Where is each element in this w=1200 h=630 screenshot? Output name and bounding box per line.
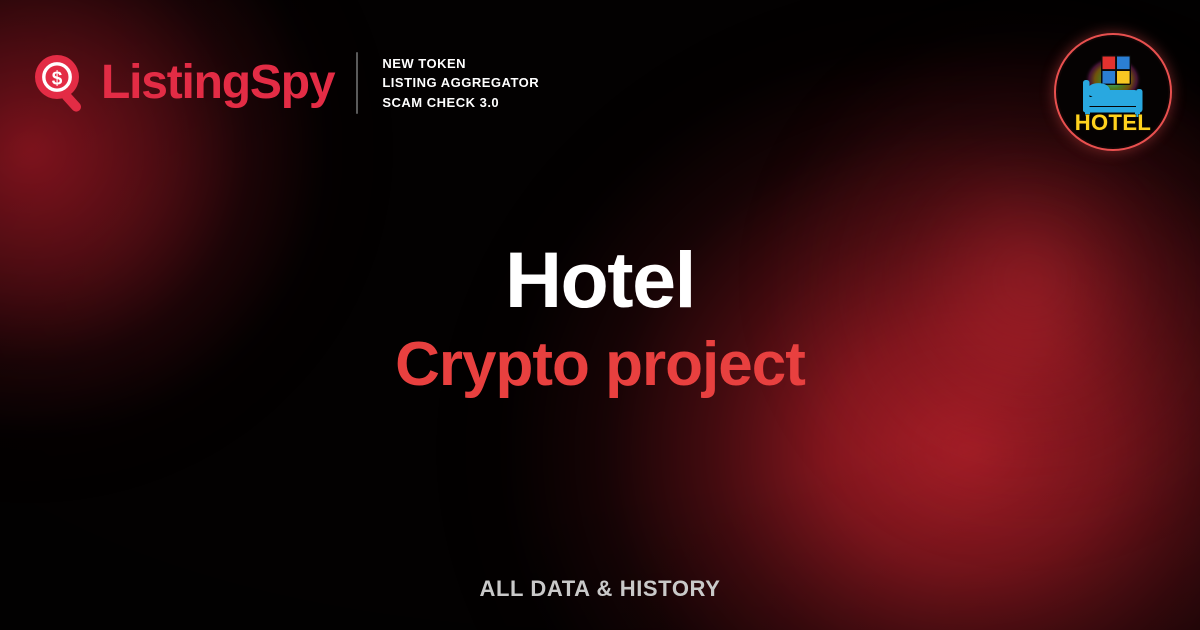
svg-text:$: $ xyxy=(52,69,63,90)
brand-name-part-2: Spy xyxy=(250,56,334,109)
tagline-line-2: LISTING AGGREGATOR xyxy=(382,74,539,91)
tagline: NEW TOKEN LISTING AGGREGATOR SCAM CHECK … xyxy=(382,55,539,110)
token-logo-badge[interactable]: HOTEL xyxy=(1054,33,1172,151)
page-title: Hotel xyxy=(0,238,1200,322)
hotel-badge-label: HOTEL xyxy=(1075,110,1152,135)
hotel-bed-badge-icon: HOTEL xyxy=(1056,35,1170,149)
brand-logo[interactable]: $ ListingSpy xyxy=(34,54,334,112)
footer-text: ALL DATA & HISTORY xyxy=(480,576,721,601)
brand-wordmark: ListingSpy xyxy=(101,59,334,107)
tagline-line-1: NEW TOKEN xyxy=(382,55,539,72)
page-subtitle: Crypto project xyxy=(0,330,1200,399)
footer: ALL DATA & HISTORY xyxy=(0,576,1200,602)
header: $ ListingSpy NEW TOKEN LISTING AGGREGATO… xyxy=(34,52,539,114)
header-divider xyxy=(356,52,358,114)
magnifier-dollar-icon: $ xyxy=(34,54,88,112)
tagline-line-3: SCAM CHECK 3.0 xyxy=(382,94,539,111)
brand-name-part-1: Listing xyxy=(101,56,250,109)
og-card: $ ListingSpy NEW TOKEN LISTING AGGREGATO… xyxy=(0,0,1200,630)
main-content: Hotel Crypto project xyxy=(0,238,1200,399)
